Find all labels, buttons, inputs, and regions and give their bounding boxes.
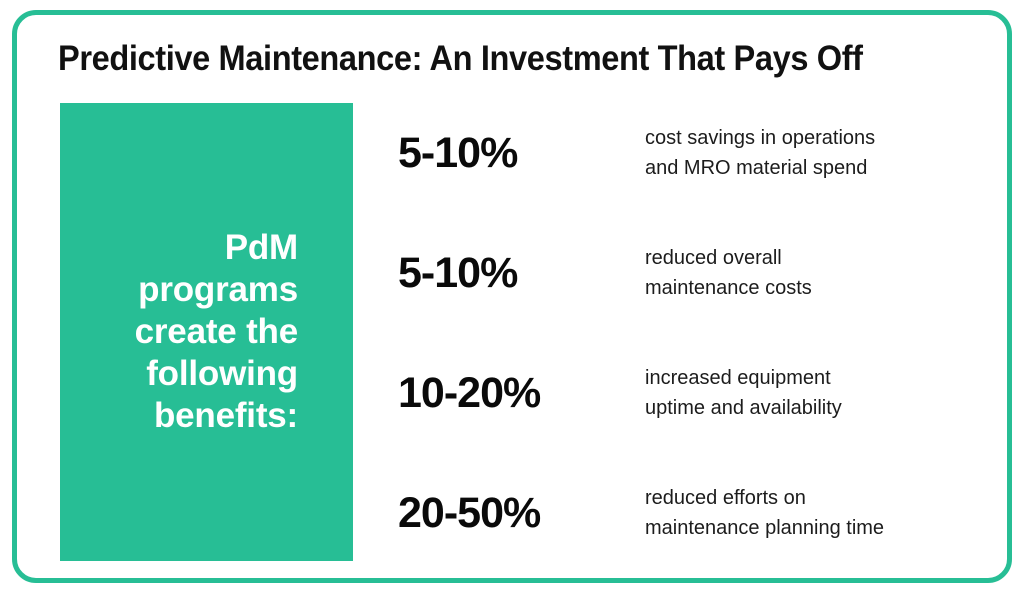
panel-heading: PdM programs create the following benefi…	[88, 227, 298, 437]
list-item: 20-50% reduced efforts on maintenance pl…	[398, 481, 988, 545]
panel-line-1: PdM	[225, 228, 298, 267]
list-item: 10-20% increased equipment uptime and av…	[398, 361, 988, 425]
stat-description-line: increased equipment	[645, 363, 988, 393]
stat-description-line: uptime and availability	[645, 393, 988, 423]
stat-description: cost savings in operations and MRO mater…	[645, 123, 988, 183]
stat-description: increased equipment uptime and availabil…	[645, 363, 988, 423]
stat-description: reduced efforts on maintenance planning …	[645, 483, 988, 543]
infographic-canvas: Predictive Maintenance: An Investment Th…	[0, 0, 1024, 597]
stat-description-line: maintenance planning time	[645, 513, 988, 543]
stat-description-line: reduced overall	[645, 243, 988, 273]
stat-value: 10-20%	[398, 369, 645, 417]
green-callout-panel: PdM programs create the following benefi…	[60, 103, 353, 561]
stat-description: reduced overall maintenance costs	[645, 243, 988, 303]
panel-line-3: create the	[135, 312, 298, 351]
panel-line-2: programs	[138, 270, 298, 309]
stat-description-line: cost savings in operations	[645, 123, 988, 153]
stat-description-line: reduced efforts on	[645, 483, 988, 513]
page-title: Predictive Maintenance: An Investment Th…	[58, 38, 914, 80]
list-item: 5-10% reduced overall maintenance costs	[398, 241, 988, 305]
stat-value: 5-10%	[398, 249, 645, 297]
stat-description-line: and MRO material spend	[645, 153, 988, 183]
stat-description-line: maintenance costs	[645, 273, 988, 303]
stat-value: 5-10%	[398, 129, 645, 177]
stats-list: 5-10% cost savings in operations and MRO…	[398, 103, 988, 561]
panel-line-4: following	[146, 354, 298, 393]
list-item: 5-10% cost savings in operations and MRO…	[398, 121, 988, 185]
panel-line-5: benefits:	[154, 396, 298, 435]
stat-value: 20-50%	[398, 489, 645, 537]
